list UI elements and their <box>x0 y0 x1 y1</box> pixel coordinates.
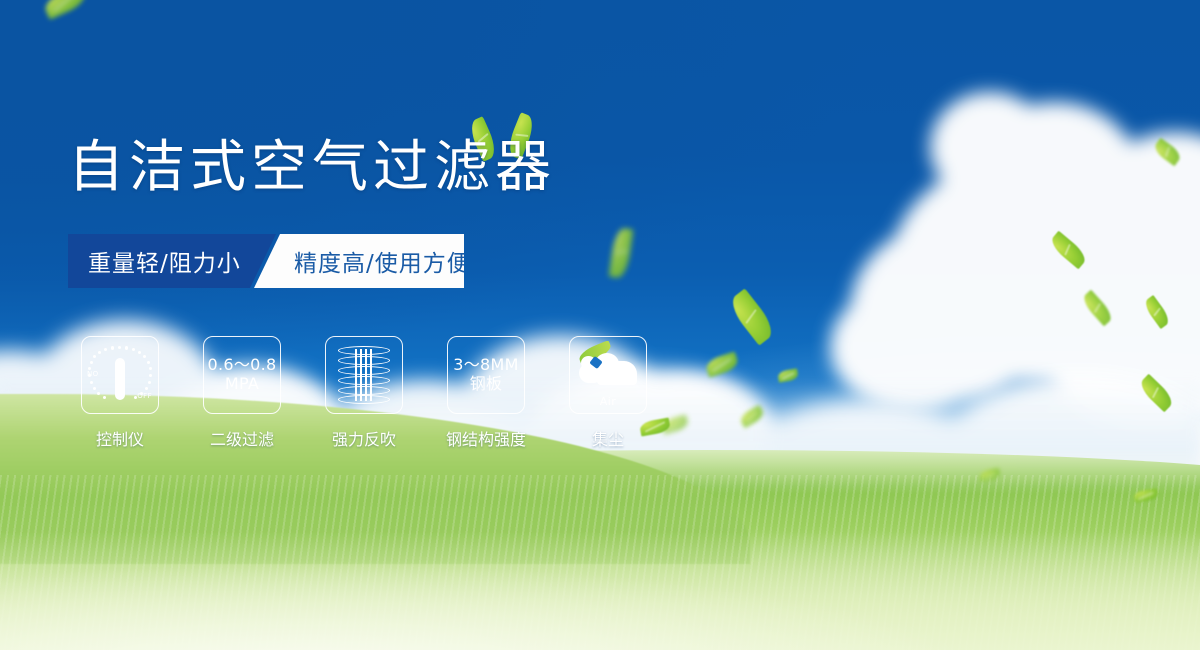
feature-label: 强力反吹 <box>332 426 396 450</box>
feature-icon-box <box>325 336 403 414</box>
feature-label: 二级过滤 <box>210 426 274 450</box>
subtitle-left-panel: 重量轻/阻力小 <box>68 234 276 288</box>
filter-stack-icon <box>338 346 390 404</box>
feature-item-two-stage-filter[interactable]: 0.6～0.8 MPA 二级过滤 <box>192 336 292 450</box>
gauge-on-label: NO <box>87 370 99 378</box>
subtitle-right-text: 精度高/使用方便 <box>294 244 471 278</box>
steel-plate-icon: 3～8MM 钢板 <box>453 356 518 394</box>
feature-list: NO OFF 控制仪 0.6～0.8 MPA 二级过滤 <box>70 336 658 450</box>
gauge-needle-icon <box>115 358 125 400</box>
subtitle-left-text: 重量轻/阻力小 <box>88 244 241 278</box>
feature-label: 集尘 <box>592 426 624 450</box>
feature-icon-box: NO OFF <box>81 336 159 414</box>
subtitle-bar: 重量轻/阻力小 精度高/使用方便 <box>68 234 464 288</box>
page-title: 自洁式空气过滤器 <box>68 140 556 196</box>
feature-item-control-unit[interactable]: NO OFF 控制仪 <box>70 336 170 450</box>
grass-foreground-light <box>0 532 1200 650</box>
product-banner: 自洁式空气过滤器 重量轻/阻力小 精度高/使用方便 <box>0 0 1200 650</box>
air-label: Air <box>600 395 617 408</box>
feature-label: 控制仪 <box>96 426 144 450</box>
feature-icon-box: Air <box>569 336 647 414</box>
feature-item-steel-strength[interactable]: 3～8MM 钢板 钢结构强度 <box>436 336 536 450</box>
air-cloud-icon: Air <box>577 347 639 403</box>
feature-icon-box: 0.6～0.8 MPA <box>203 336 281 414</box>
pressure-icon: 0.6～0.8 MPA <box>208 356 277 394</box>
feature-label: 钢结构强度 <box>446 426 526 450</box>
gauge-icon: NO OFF <box>89 344 151 406</box>
gauge-off-label: OFF <box>137 392 152 400</box>
feature-icon-box: 3～8MM 钢板 <box>447 336 525 414</box>
subtitle-right-panel: 精度高/使用方便 <box>254 234 464 288</box>
feature-item-reverse-blow[interactable]: 强力反吹 <box>314 336 414 450</box>
